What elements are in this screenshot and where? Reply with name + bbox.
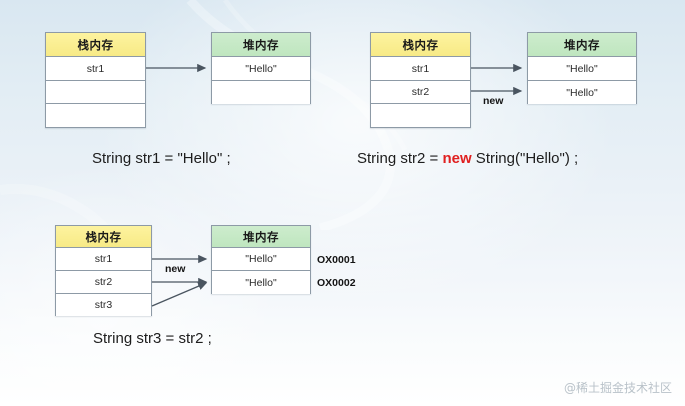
- diagram-3-address-1: OX0001: [317, 254, 356, 266]
- stack-header: 栈内存: [56, 226, 151, 248]
- diagram-1-heap-table: 堆内存 "Hello": [211, 32, 311, 104]
- heap-header: 堆内存: [212, 226, 310, 248]
- stack-row: [46, 81, 145, 104]
- stack-header: 栈内存: [371, 33, 470, 57]
- caption-text-after: String("Hello") ;: [472, 150, 579, 167]
- diagram-2-caption: String str2 = new String("Hello") ;: [357, 150, 578, 167]
- diagram-3-heap-table: 堆内存 "Hello" "Hello": [211, 225, 311, 294]
- caption-keyword-new: new: [442, 150, 471, 167]
- stack-row: str1: [371, 57, 470, 81]
- diagram-1-stack-table: 栈内存 str1: [45, 32, 146, 128]
- diagram-3-caption: String str3 = str2 ;: [93, 330, 212, 347]
- stack-row: str2: [56, 271, 151, 294]
- heap-row: "Hello": [212, 57, 310, 81]
- stack-row: [46, 104, 145, 127]
- heap-row: "Hello": [212, 248, 310, 271]
- caption-text: String str1 = "Hello" ;: [92, 150, 231, 167]
- diagram-3-stack-table: 栈内存 str1 str2 str3: [55, 225, 152, 316]
- heap-header: 堆内存: [212, 33, 310, 57]
- heap-row: [212, 81, 310, 104]
- stack-header: 栈内存: [46, 33, 145, 57]
- heap-header: 堆内存: [528, 33, 636, 57]
- slide-canvas: 栈内存 str1 堆内存 "Hello" String str1 = "Hell…: [0, 0, 685, 406]
- watermark: @稀土掘金技术社区: [564, 379, 672, 396]
- diagram-2-stack-table: 栈内存 str1 str2: [370, 32, 471, 128]
- diagram-3-address-2: OX0002: [317, 277, 356, 289]
- heap-row: "Hello": [212, 271, 310, 294]
- stack-row: str3: [56, 294, 151, 316]
- diagram-2-heap-table: 堆内存 "Hello" "Hello": [527, 32, 637, 104]
- diagram-3-new-label: new: [165, 263, 185, 275]
- heap-row: "Hello": [528, 57, 636, 81]
- diagram-2-new-label: new: [483, 95, 503, 107]
- stack-row: str1: [46, 57, 145, 81]
- caption-text: String str3 = str2 ;: [93, 330, 212, 347]
- stack-row: str2: [371, 81, 470, 104]
- diagram-1-caption: String str1 = "Hello" ;: [92, 150, 231, 167]
- stack-row: [371, 104, 470, 127]
- heap-row: "Hello": [528, 81, 636, 104]
- caption-text-before: String str2 =: [357, 150, 442, 167]
- stack-row: str1: [56, 248, 151, 271]
- decorative-swirl: [130, 0, 550, 230]
